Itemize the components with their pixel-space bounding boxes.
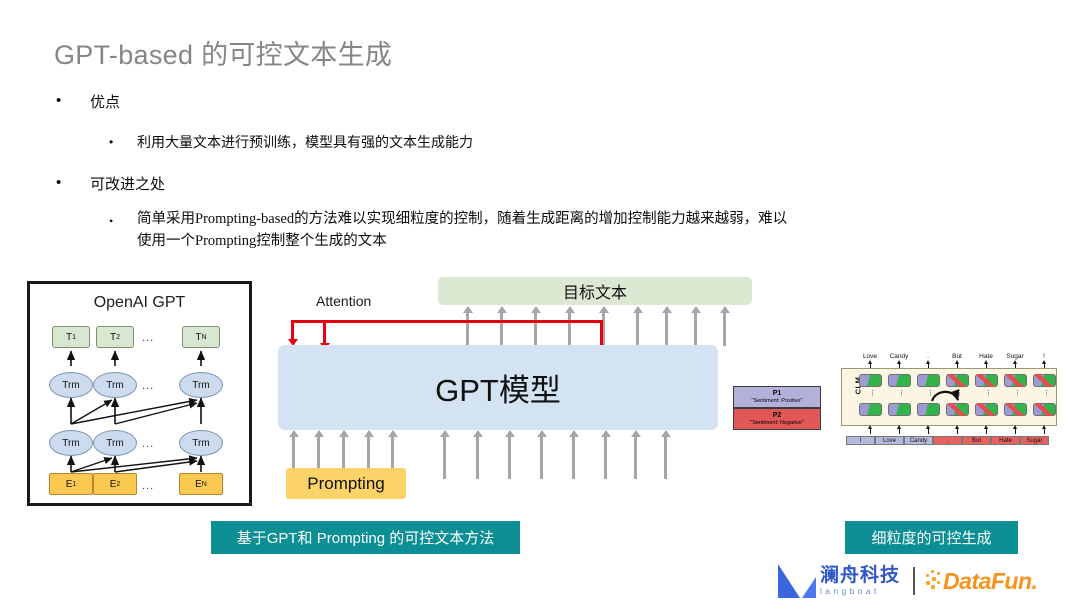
clm-cell-upper-4: [946, 374, 969, 387]
transformer-node-upper-2: Trm: [93, 372, 137, 398]
node-label: Trm: [192, 438, 209, 449]
input-arrow-7: [476, 436, 479, 479]
clm-dots-5: ⋮: [985, 391, 992, 396]
output-arrow-6: [636, 312, 639, 346]
input-arrow-3: [342, 436, 345, 469]
transformer-node-lower-n: Trm: [179, 430, 223, 456]
clm-top-arrow-6: [1013, 360, 1017, 364]
langboat-sail-icon: [778, 564, 816, 598]
node-sublabel: 2: [116, 334, 120, 341]
clm-bottom-arrow-2: [897, 425, 901, 429]
clm-top-token-7: !: [1027, 353, 1061, 360]
output-arrow-8: [694, 312, 697, 346]
clm-bottom-token-1: I: [846, 436, 875, 445]
bullet-item-advantages: • 优点: [90, 91, 120, 112]
page-title: GPT-based 的可控文本生成: [54, 33, 392, 72]
attention-vertical-line: [600, 320, 603, 346]
bullet-label: 可改进之处: [90, 176, 165, 193]
input-arrow-5: [391, 436, 394, 469]
clm-bottom-token-3: Candy: [904, 436, 933, 445]
clm-cell-lower-4: [946, 403, 969, 416]
transformer-node-lower-2: Trm: [93, 430, 137, 456]
bullet-marker: •: [56, 92, 61, 109]
clm-bottom-token-2: Love: [875, 436, 904, 445]
prompting-box: Prompting: [286, 468, 406, 499]
input-arrow-1: [292, 436, 295, 469]
attention-arrow-2: [323, 320, 326, 344]
prompt-text: "Sentiment: Positive": [752, 398, 803, 404]
clm-cell-upper-3: [917, 374, 940, 387]
clm-cell-upper-6: [1004, 374, 1027, 387]
clm-figure: CLM ⋮ ⋮ ⋮ ⋮ ⋮ ⋮ ⋮: [841, 368, 1057, 426]
attention-arrow-1: [291, 320, 294, 340]
datafun-dots-icon: [926, 570, 942, 592]
node-label: Trm: [192, 380, 209, 391]
clm-bottom-arrow-1: [868, 425, 872, 429]
node-sublabel: N: [202, 481, 207, 488]
clm-bottom-arrow-6: [1013, 425, 1017, 429]
clm-cell-lower-7: [1033, 403, 1056, 416]
transformer-node-lower-1: Trm: [49, 430, 93, 456]
clm-dots-6: ⋮: [1014, 391, 1021, 396]
clm-bottom-token-7: Sugar: [1020, 436, 1049, 445]
ellipsis-input: ...: [142, 480, 154, 492]
clm-dots-4: ⋮: [956, 391, 963, 396]
ellipsis-output: ...: [142, 332, 154, 344]
langboat-wordmark: 澜舟科技 langboat: [820, 566, 900, 596]
clm-top-arrow-1: [868, 360, 872, 364]
clm-dots-7: ⋮: [1043, 391, 1050, 396]
input-arrow-2: [317, 436, 320, 469]
clm-cell-lower-2: [888, 403, 911, 416]
clm-bottom-arrow-7: [1042, 425, 1046, 429]
openai-gpt-figure: OpenAI GPT T1 T2 ... TN: [27, 281, 252, 506]
prompt-name: P2: [773, 412, 782, 420]
output-arrow-1: [466, 312, 469, 346]
prompt-box-p1: P1 "Sentiment: Positive": [733, 386, 821, 408]
input-arrow-4: [367, 436, 370, 469]
clm-cell-lower-3: [917, 403, 940, 416]
clm-bottom-token-4: .: [933, 436, 962, 445]
clm-bottom-arrow-3: [926, 425, 930, 429]
input-node-e2: E2: [93, 473, 137, 495]
clm-top-arrow-7: [1042, 360, 1046, 364]
datafun-wordmark: DataFun.: [943, 568, 1037, 595]
output-arrow-9: [723, 312, 726, 346]
node-label: E: [110, 479, 117, 490]
input-arrow-6: [443, 436, 446, 479]
clm-dots-1: ⋮: [869, 391, 876, 396]
bullet-label: 优点: [90, 94, 120, 111]
output-node-t1: T1: [52, 326, 90, 348]
bullet-marker: •: [56, 174, 61, 191]
caption-right: 细粒度的可控生成: [845, 521, 1018, 554]
openai-gpt-figure-title: OpenAI GPT: [30, 294, 249, 312]
transformer-node-upper-1: Trm: [49, 372, 93, 398]
node-label: Trm: [62, 380, 79, 391]
node-label: E: [195, 479, 202, 490]
clm-bottom-token-5: But: [962, 436, 991, 445]
bullet-marker: •: [109, 132, 113, 153]
input-node-en: EN: [179, 473, 223, 495]
ellipsis-upper: ...: [142, 380, 154, 392]
bullet-item-improvements-detail: • 简单采用Prompting-based的方法难以实现细粒度的控制，随着生成距…: [137, 208, 967, 252]
node-label: E: [66, 479, 73, 490]
footer-logos: 澜舟科技 langboat DataFun.: [778, 560, 1068, 602]
langboat-name-en: langboat: [820, 586, 900, 596]
bullet-item-advantages-detail: • 利用大量文本进行预训练，模型具有强的文本生成能力: [137, 132, 473, 153]
input-arrow-11: [604, 436, 607, 479]
output-arrow-7: [665, 312, 668, 346]
bullet-label: 利用大量文本进行预训练，模型具有强的文本生成能力: [137, 134, 473, 150]
output-arrow-3: [534, 312, 537, 346]
clm-bottom-token-6: Hate: [991, 436, 1020, 445]
node-sublabel: 1: [72, 334, 76, 341]
output-arrow-2: [500, 312, 503, 346]
transformer-node-upper-n: Trm: [179, 372, 223, 398]
caption-left: 基于GPT和 Prompting 的可控文本方法: [211, 521, 520, 554]
node-sublabel: 1: [72, 481, 76, 488]
clm-top-arrow-2: [897, 360, 901, 364]
prompt-name: P1: [773, 390, 782, 398]
clm-cell-upper-5: [975, 374, 998, 387]
bullet-label-line1: 简单采用Prompting-based的方法难以实现细粒度的控制，随着生成距离的…: [137, 211, 787, 227]
target-text-box: 目标文本: [438, 277, 752, 305]
output-node-tn: TN: [182, 326, 220, 348]
input-arrow-9: [540, 436, 543, 479]
clm-top-arrow-4: [955, 360, 959, 364]
input-arrow-8: [508, 436, 511, 479]
node-label: Trm: [62, 438, 79, 449]
clm-cell-lower-6: [1004, 403, 1027, 416]
logo-divider: [913, 567, 915, 595]
clm-cell-lower-5: [975, 403, 998, 416]
bullet-item-improvements: • 可改进之处: [90, 173, 165, 194]
clm-bottom-arrow-4: [955, 425, 959, 429]
clm-cell-upper-2: [888, 374, 911, 387]
node-label: Trm: [106, 438, 123, 449]
node-sublabel: 2: [116, 481, 120, 488]
output-arrow-4: [568, 312, 571, 346]
clm-top-arrow-3: [926, 360, 930, 364]
attention-horizontal-line: [292, 320, 602, 323]
clm-bottom-arrow-5: [984, 425, 988, 429]
output-node-t2: T2: [96, 326, 134, 348]
node-label: Trm: [106, 380, 123, 391]
attention-label: Attention: [316, 293, 371, 309]
input-arrow-10: [572, 436, 575, 479]
node-sublabel: N: [202, 334, 207, 341]
langboat-name-cn: 澜舟科技: [820, 566, 900, 586]
input-node-e1: E1: [49, 473, 93, 495]
ellipsis-lower: ...: [142, 438, 154, 450]
clm-cell-lower-1: [859, 403, 882, 416]
gpt-model-box: GPT模型: [278, 345, 718, 430]
input-arrow-12: [634, 436, 637, 479]
bullet-label-line2: 使用一个Prompting控制整个生成的文本: [137, 233, 387, 249]
clm-cell-upper-7: [1033, 374, 1056, 387]
prompt-box-p2: P2 "Sentiment: Negative": [733, 408, 821, 430]
clm-top-arrow-5: [984, 360, 988, 364]
clm-dots-2: ⋮: [898, 391, 905, 396]
clm-dots-3: ⋮: [927, 391, 934, 396]
clm-cell-upper-1: [859, 374, 882, 387]
input-arrow-13: [664, 436, 667, 479]
bullet-marker: •: [109, 210, 113, 232]
prompt-text: "Sentiment: Negative": [750, 420, 803, 426]
